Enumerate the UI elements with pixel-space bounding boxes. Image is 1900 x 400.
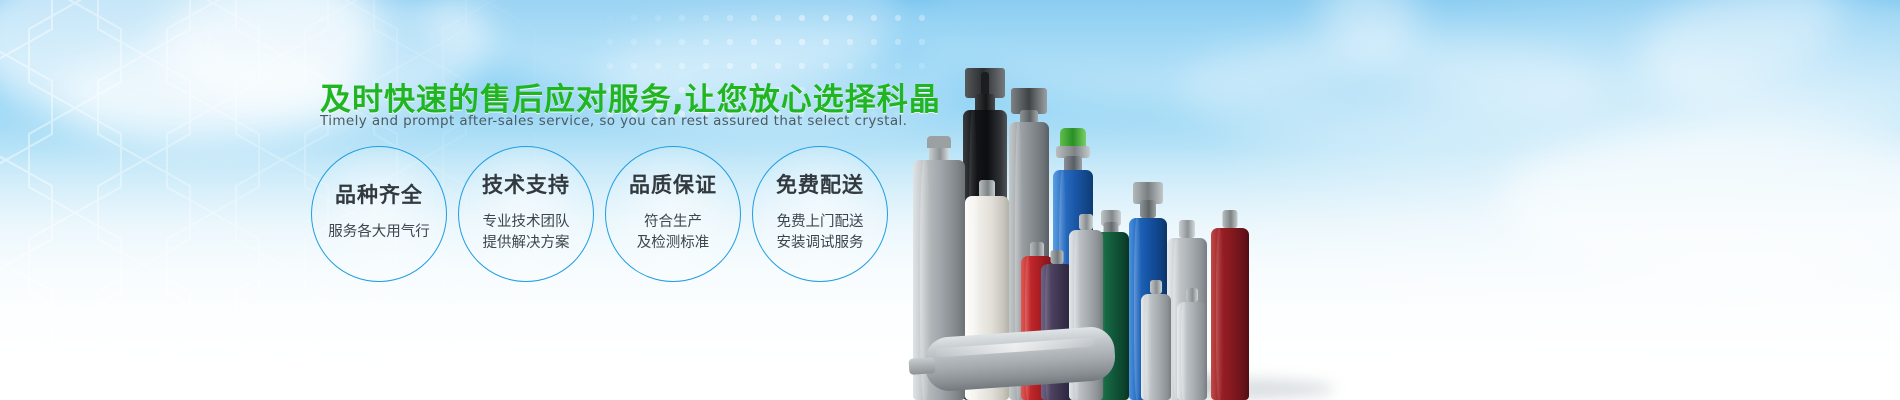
banner-subheadline: Timely and prompt after-sales service, s… <box>320 113 890 129</box>
badge-subtitle-line1: 服务各大用气行 <box>328 222 430 243</box>
badge-title: 技术支持 <box>482 175 570 196</box>
cylinder-silver-front-a <box>1141 280 1171 400</box>
feature-badge[interactable]: 品质保证 符合生产 及检测标准 <box>605 146 741 282</box>
badge-subtitle-line1: 免费上门配送 <box>777 212 864 233</box>
cylinder-burgundy <box>1211 210 1249 400</box>
cloud-decoration <box>1640 0 1900 130</box>
badge-subtitle-line2: 提供解决方案 <box>483 233 570 254</box>
badge-subtitle-line2: 及检测标准 <box>637 233 710 254</box>
badge-title: 免费配送 <box>776 175 864 196</box>
feature-badge[interactable]: 品种齐全 服务各大用气行 <box>311 146 447 282</box>
feature-badge[interactable]: 免费配送 免费上门配送 安装调试服务 <box>752 146 888 282</box>
badge-subtitle-line2: 安装调试服务 <box>777 233 864 254</box>
promo-banner: 及时快速的售后应对服务,让您放心选择科晶 Timely and prompt a… <box>0 0 1900 400</box>
badge-subtitle-line1: 符合生产 <box>637 212 710 233</box>
feature-badge-list: 品种齐全 服务各大用气行 技术支持 专业技术团队 提供解决方案 品质保证 符合生… <box>305 146 905 286</box>
gas-cylinders-image <box>905 0 1335 400</box>
cloud-decoration <box>1320 0 1840 110</box>
feature-badge[interactable]: 技术支持 专业技术团队 提供解决方案 <box>458 146 594 282</box>
cylinder-horizontal-tank-neck <box>908 357 935 375</box>
badge-title: 品质保证 <box>629 175 717 196</box>
cloud-decoration <box>60 40 360 150</box>
badge-title: 品种齐全 <box>335 185 423 206</box>
badge-subtitle-line1: 专业技术团队 <box>483 212 570 233</box>
cylinder-silver-front-b <box>1177 288 1207 400</box>
cloud-decoration <box>1500 120 1900 280</box>
